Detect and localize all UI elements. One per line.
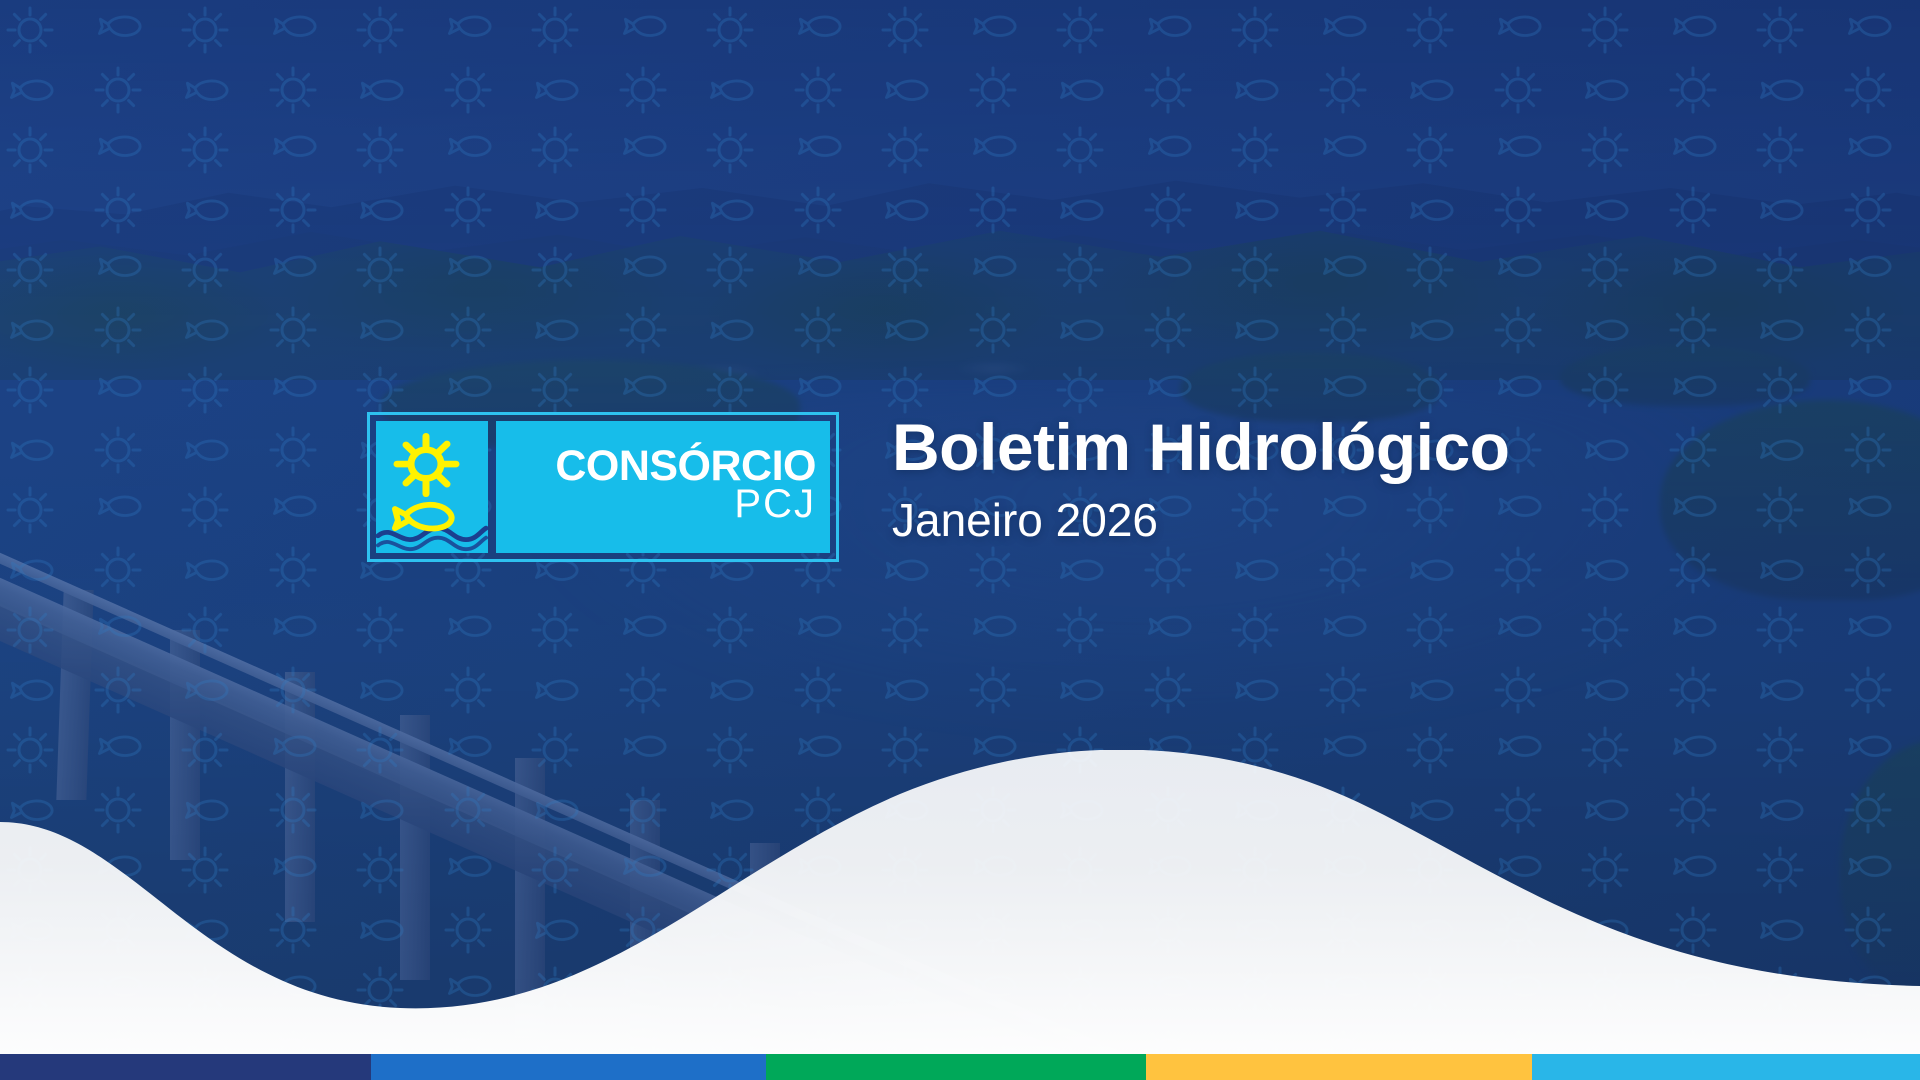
page-subtitle: Janeiro 2026 — [892, 493, 1792, 548]
bottom-color-bar — [0, 1054, 1920, 1080]
color-bar-segment-cyan — [1532, 1054, 1920, 1080]
logo-name-line2: PCJ — [734, 484, 816, 524]
color-bar-segment-navy — [0, 1054, 371, 1080]
consorcio-pcj-logo[interactable]: CONSÓRCIO PCJ — [367, 412, 839, 562]
logo-field — [376, 421, 488, 542]
logo-mark-svg — [376, 421, 488, 553]
white-wave-decoration — [0, 750, 1920, 1080]
logo-mark-panel — [376, 421, 488, 553]
page-title: Boletim Hidrológico — [892, 412, 1792, 483]
logo-text-panel: CONSÓRCIO PCJ — [496, 421, 830, 553]
wave-shape — [0, 750, 1920, 1080]
color-bar-segment-blue — [371, 1054, 767, 1080]
title-block: Boletim Hidrológico Janeiro 2026 — [892, 412, 1792, 548]
slide-cover: CONSÓRCIO PCJ Boletim Hidrológico Janeir… — [0, 0, 1920, 1080]
logo-name-line1: CONSÓRCIO — [555, 446, 816, 487]
color-bar-segment-green — [766, 1054, 1146, 1080]
color-bar-segment-yellow — [1146, 1054, 1532, 1080]
